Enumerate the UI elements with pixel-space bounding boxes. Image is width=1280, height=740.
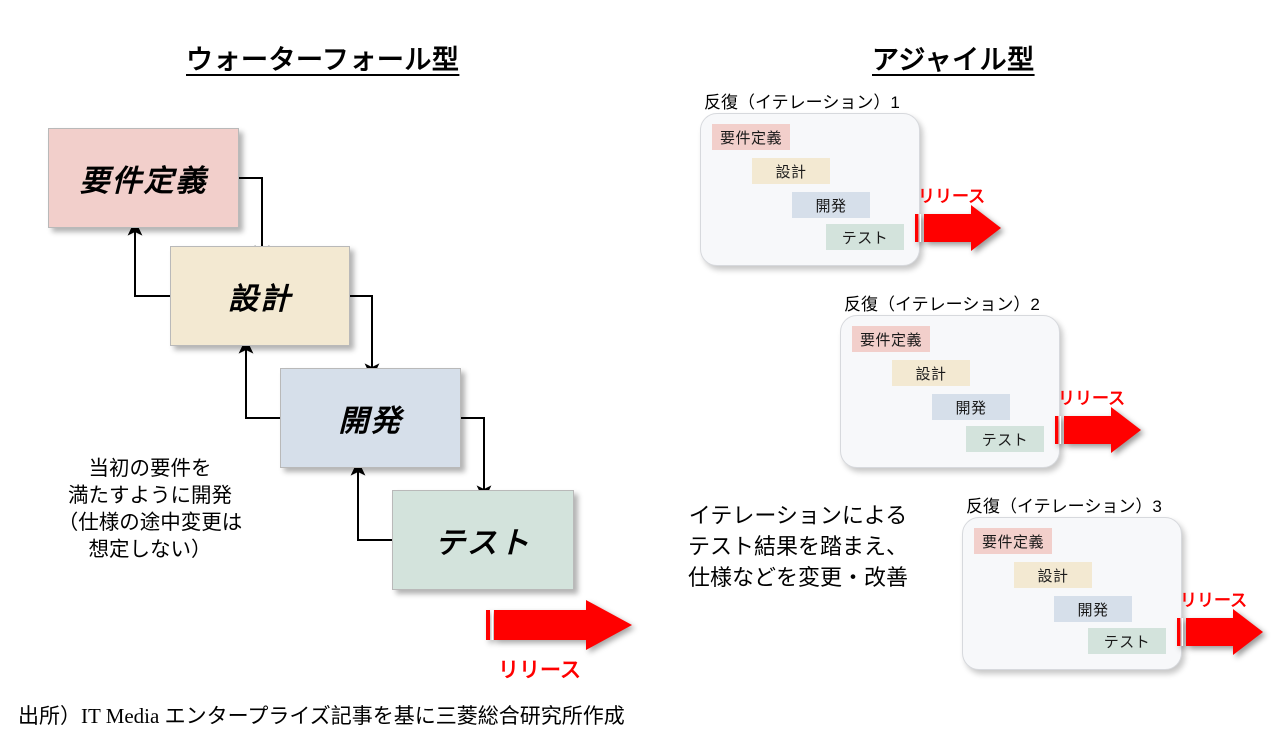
iteration-step-development[interactable]: 開発 <box>932 394 1010 420</box>
step-label: 開発 <box>955 397 986 418</box>
release-label: リリース <box>1058 384 1125 409</box>
release-label: リリース <box>1180 586 1247 611</box>
waterfall-phase-label: テスト <box>435 518 531 562</box>
iteration-label: 反復（イテレーション）1 <box>704 88 900 113</box>
iteration-step-requirements[interactable]: 要件定義 <box>852 326 930 352</box>
release-arrow-icon <box>1055 406 1143 454</box>
iteration-step-development[interactable]: 開発 <box>1054 596 1132 622</box>
iteration-step-test[interactable]: テスト <box>966 426 1044 452</box>
agile-note: イテレーションによる テスト結果を踏まえ、 仕様などを変更・改善 <box>648 500 948 594</box>
waterfall-phase-label: 設計 <box>228 274 292 318</box>
step-label: 要件定義 <box>720 127 782 148</box>
waterfall-phase-test[interactable]: テスト <box>392 490 574 590</box>
iteration-step-design[interactable]: 設計 <box>892 360 970 386</box>
waterfall-phase-design[interactable]: 設計 <box>170 246 350 346</box>
waterfall-phase-label: 開発 <box>339 396 403 440</box>
iteration-step-requirements[interactable]: 要件定義 <box>974 528 1052 554</box>
iteration-step-design[interactable]: 設計 <box>752 158 830 184</box>
step-label: 開発 <box>815 195 846 216</box>
waterfall-section-title: ウォーターフォール型 <box>186 38 459 77</box>
release-label: リリース <box>498 654 581 684</box>
iteration-label: 反復（イテレーション）2 <box>844 290 1040 315</box>
waterfall-phase-label: 要件定義 <box>80 156 208 200</box>
release-arrow-icon <box>486 598 638 654</box>
iteration-step-test[interactable]: テスト <box>826 224 904 250</box>
release-label: リリース <box>918 182 985 207</box>
step-label: 設計 <box>915 363 946 384</box>
agile-section-title: アジャイル型 <box>872 38 1035 77</box>
step-label: 要件定義 <box>982 531 1044 552</box>
diagram-canvas: ウォーターフォール型 アジャイル型 要件定義 設計 開発 <box>0 0 1280 740</box>
step-label: 要件定義 <box>860 329 922 350</box>
iteration-label: 反復（イテレーション）3 <box>966 492 1162 517</box>
waterfall-phase-requirements[interactable]: 要件定義 <box>48 128 239 228</box>
waterfall-phase-development[interactable]: 開発 <box>280 368 461 468</box>
step-label: テスト <box>982 429 1029 450</box>
iteration-step-test[interactable]: テスト <box>1088 628 1166 654</box>
step-label: テスト <box>1104 631 1151 652</box>
iteration-step-design[interactable]: 設計 <box>1014 562 1092 588</box>
iteration-step-development[interactable]: 開発 <box>792 192 870 218</box>
release-arrow-icon <box>915 204 1003 252</box>
iteration-step-requirements[interactable]: 要件定義 <box>712 124 790 150</box>
release-arrow-icon <box>1177 608 1265 656</box>
step-label: テスト <box>842 227 889 248</box>
source-attribution: 出所）IT Media エンタープライズ記事を基に三菱総合研究所作成 <box>18 700 625 730</box>
step-label: 設計 <box>1037 565 1068 586</box>
step-label: 設計 <box>775 161 806 182</box>
step-label: 開発 <box>1077 599 1108 620</box>
waterfall-note: 当初の要件を 満たすように開発 （仕様の途中変更は 想定しない） <box>34 455 266 563</box>
